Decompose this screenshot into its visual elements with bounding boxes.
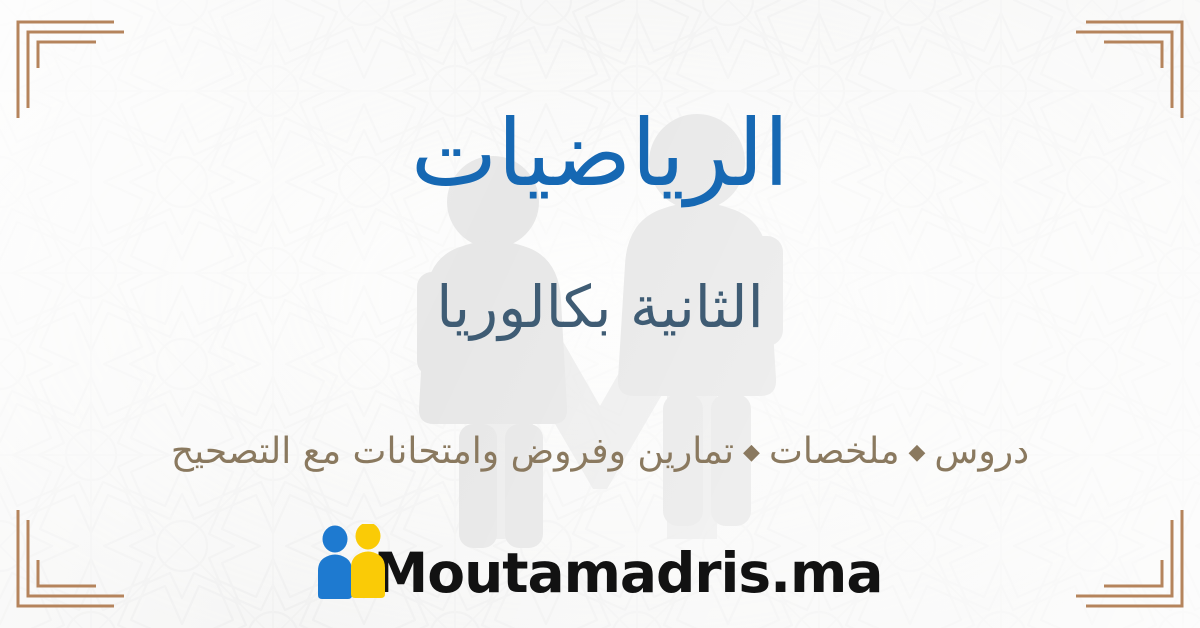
tagline-part-lessons: دروس	[934, 431, 1029, 472]
poster-content: الرياضيات الثانية بكالوريا دروس◆ملخصات◆ت…	[0, 0, 1200, 628]
tagline-part-summaries: ملخصات	[769, 431, 900, 472]
tagline-separator-icon: ◆	[899, 440, 934, 465]
page-title: الرياضيات	[0, 108, 1200, 200]
two-students-figures-icon	[318, 524, 390, 602]
tagline: دروس◆ملخصات◆تمارين وفروض وامتحانات مع ال…	[0, 432, 1200, 472]
brand-lockup[interactable]: Moutamadris.ma	[0, 524, 1200, 603]
page-subtitle: الثانية بكالوريا	[0, 278, 1200, 336]
tagline-separator-icon: ◆	[734, 440, 769, 465]
brand-name: Moutamadris.ma	[374, 546, 883, 603]
poster-canvas: الرياضيات الثانية بكالوريا دروس◆ملخصات◆ت…	[0, 0, 1200, 628]
tagline-part-exercises: تمارين وفروض وامتحانات مع التصحيح	[171, 431, 734, 472]
